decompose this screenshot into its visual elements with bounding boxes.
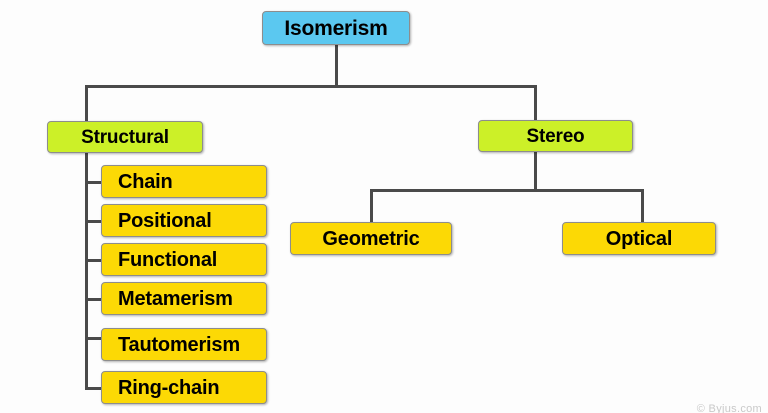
- connector-to-optical: [641, 189, 644, 223]
- node-tautomerism[interactable]: Tautomerism: [101, 328, 267, 361]
- node-geometric[interactable]: Geometric: [290, 222, 452, 255]
- connector-to-geometric: [370, 189, 373, 223]
- connector-stub-positional: [85, 220, 102, 223]
- node-optical[interactable]: Optical: [562, 222, 716, 255]
- node-ring-chain[interactable]: Ring-chain: [101, 371, 267, 404]
- node-structural[interactable]: Structural: [47, 121, 203, 153]
- node-stereo[interactable]: Stereo: [478, 120, 633, 152]
- connector-to-stereo: [534, 85, 537, 122]
- connector-stub-metamerism: [85, 298, 102, 301]
- connector-to-structural: [85, 85, 88, 123]
- node-functional[interactable]: Functional: [101, 243, 267, 276]
- node-chain[interactable]: Chain: [101, 165, 267, 198]
- connector-stereo-bar: [370, 189, 644, 192]
- connector-stub-chain: [85, 181, 102, 184]
- connector-stereo-stem: [534, 152, 537, 191]
- connector-stub-tautomerism: [85, 337, 102, 340]
- connector-root-stem: [335, 44, 338, 87]
- watermark-label: © Byjus.com: [697, 403, 762, 413]
- node-metamerism[interactable]: Metamerism: [101, 282, 267, 315]
- connector-structural-spine: [85, 152, 88, 390]
- connector-stub-ring-chain: [85, 387, 102, 390]
- connector-branch-bar: [85, 85, 537, 88]
- connector-stub-functional: [85, 259, 102, 262]
- node-isomerism[interactable]: Isomerism: [262, 11, 410, 45]
- isomerism-classification-diagram: Isomerism Structural Stereo Chain Positi…: [0, 0, 768, 413]
- node-positional[interactable]: Positional: [101, 204, 267, 237]
